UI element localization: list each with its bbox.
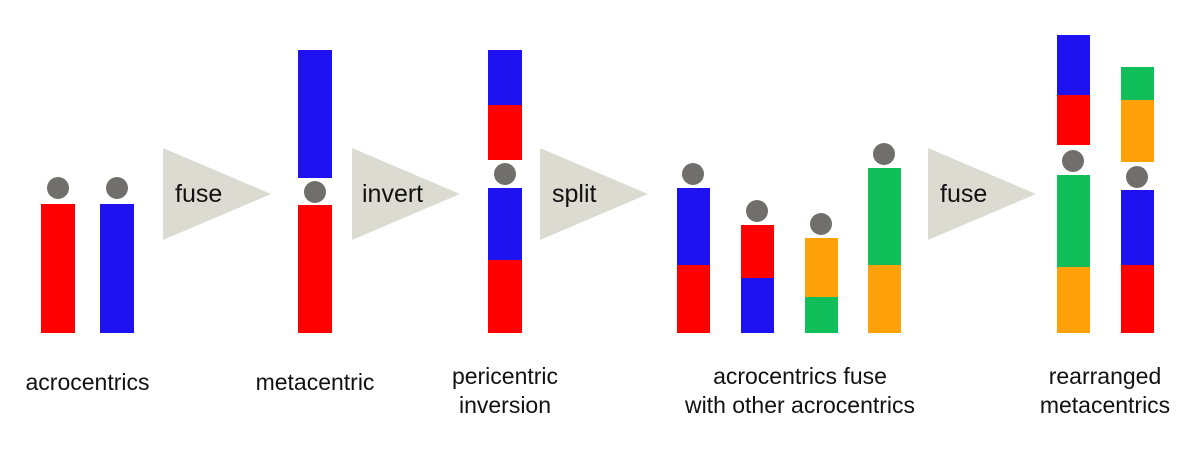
chromosome-arm-green [805,297,838,333]
centromere-icon [1062,150,1084,172]
chromosome-arm-red [488,260,522,333]
chromosome-arm-red [298,205,332,333]
chromosome-arm-red [677,265,710,333]
chromosome-arm-blue [741,278,774,333]
arrow-fuse-1: fuse [163,148,271,240]
chromosome-arm-blue [488,188,522,260]
chromosome-arm-blue [1057,35,1090,95]
arrow-label: split [552,180,596,209]
centromere-icon [304,181,326,203]
chromosome-arm-red [488,105,522,160]
centromere-icon [873,143,895,165]
stage-label-stage-acrocentrics-fuse: acrocentrics fuse with other acrocentric… [655,362,945,421]
centromere-icon [106,177,128,199]
centromere-icon [682,163,704,185]
chromosome-arm-blue [298,50,332,178]
chromosome-arm-red [741,225,774,278]
centromere-icon [810,213,832,235]
centromere-icon [746,200,768,222]
stage-label-stage-pericentric-inversion: pericentric inversion [420,362,590,421]
centromere-icon [1126,166,1148,188]
chromosome-arm-blue [1121,190,1154,265]
stage-label-stage-acrocentrics: acrocentrics [0,368,175,397]
chromosome-arm-orange [805,238,838,297]
arrow-fuse-2: fuse [928,148,1036,240]
chromosome-arm-green [868,168,901,265]
arrow-split: split [540,148,648,240]
chromosome-arm-blue [488,50,522,105]
chromosome-arm-orange [1057,267,1090,333]
chromosome-arm-green [1121,67,1154,100]
arrow-invert: invert [352,148,460,240]
chromosome-rearrangement-diagram: fuseinvertsplitfuseacrocentricsmetacentr… [0,0,1200,450]
arrow-label: fuse [175,180,222,209]
arrow-label: fuse [940,180,987,209]
centromere-icon [47,177,69,199]
chromosome-arm-blue [100,204,134,333]
chromosome-arm-red [1121,265,1154,333]
arrow-label: invert [362,180,423,209]
chromosome-arm-orange [868,265,901,333]
chromosome-arm-red [1057,95,1090,145]
centromere-icon [494,163,516,185]
chromosome-arm-blue [677,188,710,265]
stage-label-stage-metacentric: metacentric [230,368,400,397]
stage-label-stage-rearranged-metacentrics: rearranged metacentrics [1010,362,1200,421]
chromosome-arm-green [1057,175,1090,267]
chromosome-arm-red [41,204,75,333]
chromosome-arm-orange [1121,100,1154,162]
